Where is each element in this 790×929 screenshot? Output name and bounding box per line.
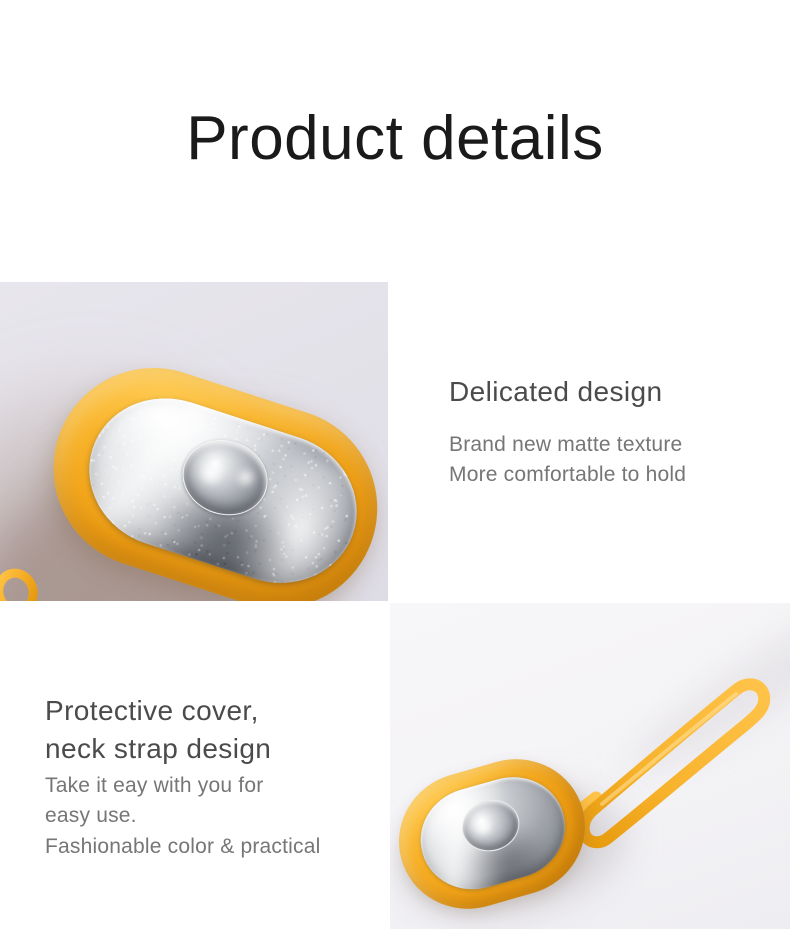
section-body-protective-cover: Take it eay with you for easy use. Fashi…: [45, 771, 390, 862]
button-highlight: [194, 458, 229, 490]
page-title: Product details: [0, 108, 790, 170]
button-highlight-secondary: [230, 463, 261, 491]
product-details-page: Product details: [0, 0, 790, 929]
product-photo-full-product-with-strap: [390, 603, 790, 929]
device-body-macro: [28, 342, 388, 601]
section-body-delicated-design: Brand new matte texture More comfortable…: [449, 430, 779, 491]
product-photo-macro-close-up: [0, 282, 388, 601]
section-heading-delicated-design: Delicated design: [449, 373, 779, 411]
device-body-full: [390, 743, 601, 926]
power-button-icon: [173, 429, 278, 526]
section-heading-protective-cover: Protective cover, neck strap design: [45, 692, 385, 767]
button-highlight-full: [471, 815, 497, 839]
